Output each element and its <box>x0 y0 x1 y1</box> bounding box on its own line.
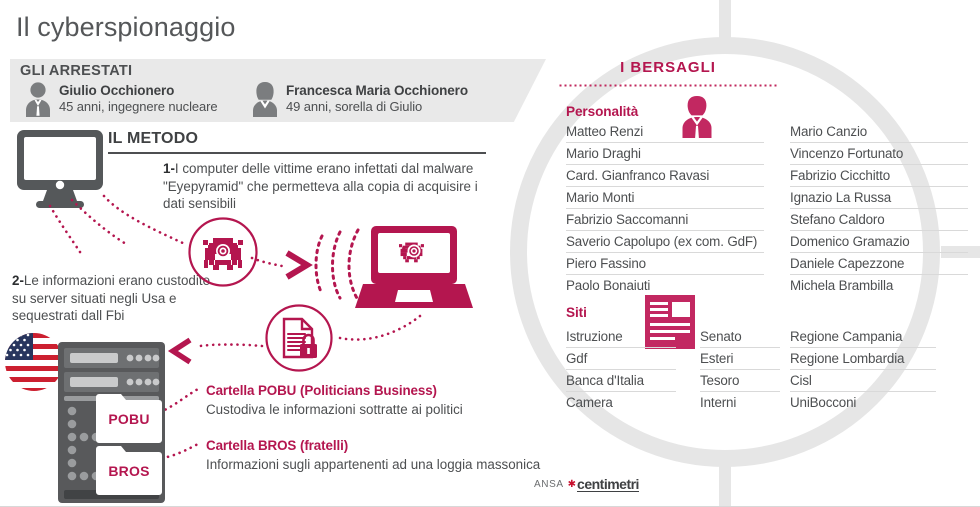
list-item: Cisl <box>790 370 936 392</box>
list-item: Card. Gianfranco Ravasi <box>566 165 764 187</box>
folder-desc-bros: Cartella BROS (fratelli) Informazioni su… <box>206 437 540 473</box>
list-item: Esteri <box>700 348 780 370</box>
list-item: Michela Brambilla <box>790 275 968 296</box>
list-item: Mario Monti <box>566 187 764 209</box>
arrow-right-icon <box>281 248 315 282</box>
method-step-1: 1-I computer delle vittime erano infetta… <box>163 160 483 213</box>
step-1-number: 1- <box>163 161 175 176</box>
list-item: Paolo Bonaiuti <box>566 275 764 296</box>
method-rule <box>108 152 486 154</box>
targets-siti-column-c: Regione Campania Regione Lombardia Cisl … <box>790 326 936 413</box>
list-item: Fabrizio Cicchitto <box>790 165 968 187</box>
monitor-icon <box>14 128 106 210</box>
ansa-label: ANSA <box>534 479 564 490</box>
folder-bros-paren: (fratelli) <box>300 438 348 453</box>
folder-bros-body: Informazioni sugli appartenenti ad una l… <box>206 456 540 474</box>
list-item: Vincenzo Fortunato <box>790 143 968 165</box>
arrested-person-desc: 45 anni, ingegnere nucleare <box>59 99 217 114</box>
method-heading: IL METODO <box>108 130 198 148</box>
folder-bros-head: Cartella BROS <box>206 438 296 453</box>
step-2-text: Le informazioni erano custodite su serve… <box>12 273 210 323</box>
folder-label: BROS <box>96 463 162 479</box>
list-item: Matteo Renzi <box>566 121 764 143</box>
arrow-left-icon <box>167 336 197 366</box>
list-item: Ignazio La Russa <box>790 187 968 209</box>
folder-pobu: POBU <box>96 391 162 443</box>
list-item: Daniele Capezzone <box>790 253 968 275</box>
usa-flag-icon <box>3 331 65 393</box>
folder-desc-pobu: Cartella POBU (Politicians Business) Cus… <box>206 382 463 418</box>
targets-personalita-column-b: Mario Canzio Vincenzo Fortunato Fabrizio… <box>790 121 968 296</box>
page-title: Il cyberspionaggio <box>16 12 235 43</box>
list-item: Regione Campania <box>790 326 936 348</box>
ansa-centimetri-logo: ANSA ✱ centimetri <box>534 478 639 491</box>
list-item: Mario Canzio <box>790 121 968 143</box>
crosshair-tick-bottom <box>719 466 731 507</box>
targets-siti-column-b: Senato Esteri Tesoro Interni <box>700 326 780 413</box>
malware-bug-icon <box>187 216 259 288</box>
section-heading-personalita: Personalità <box>566 104 638 119</box>
arrested-person-name: Francesca Maria Occhionero <box>286 83 468 98</box>
folder-pobu-body: Custodiva le informazioni sottratte ai p… <box>206 401 463 419</box>
crosshair-tick-top <box>719 0 731 38</box>
targets-siti-column-a: Istruzione Gdf Banca d'Italia Camera <box>566 326 676 413</box>
targets-heading: I BERSAGLI <box>620 59 716 76</box>
list-item: Piero Fassino <box>566 253 764 275</box>
list-item: UniBocconi <box>790 392 936 413</box>
folder-label: POBU <box>96 411 162 427</box>
arrested-heading: GLI ARRESTATI <box>20 63 132 79</box>
list-item: Fabrizio Saccomanni <box>566 209 764 231</box>
list-item: Interni <box>700 392 780 413</box>
list-item: Senato <box>700 326 780 348</box>
list-item: Istruzione <box>566 326 676 348</box>
folder-pobu-head: Cartella POBU <box>206 383 296 398</box>
list-item: Domenico Gramazio <box>790 231 968 253</box>
list-item: Regione Lombardia <box>790 348 936 370</box>
step-1-text: I computer delle vittime erano infettati… <box>163 161 478 211</box>
man-avatar-icon <box>22 81 54 117</box>
list-item: Saverio Capolupo (ex com. GdF) <box>566 231 764 253</box>
list-item: Camera <box>566 392 676 413</box>
list-item: Gdf <box>566 348 676 370</box>
woman-avatar-icon <box>249 81 281 117</box>
folder-pobu-paren: (Politicians Business) <box>300 383 437 398</box>
targets-dotted-rule <box>558 84 778 87</box>
star-icon: ✱ <box>568 479 576 490</box>
section-heading-siti: Siti <box>566 305 587 320</box>
folder-bros: BROS <box>96 443 162 495</box>
step-2-number: 2- <box>12 273 24 288</box>
arrested-person-desc: 49 anni, sorella di Giulio <box>286 99 422 114</box>
arrested-person-name: Giulio Occhionero <box>59 83 174 98</box>
list-item: Tesoro <box>700 370 780 392</box>
centimetri-label: centimetri <box>577 478 639 492</box>
list-item: Mario Draghi <box>566 143 764 165</box>
document-lock-icon <box>264 303 334 373</box>
infographic-page: Il cyberspionaggio GLI ARRESTATI Giulio … <box>0 0 980 507</box>
list-item: Stefano Caldoro <box>790 209 968 231</box>
list-item: Banca d'Italia <box>566 370 676 392</box>
targets-personalita-column-a: Matteo Renzi Mario Draghi Card. Gianfran… <box>566 121 764 296</box>
laptop-infected-icon <box>355 224 473 312</box>
